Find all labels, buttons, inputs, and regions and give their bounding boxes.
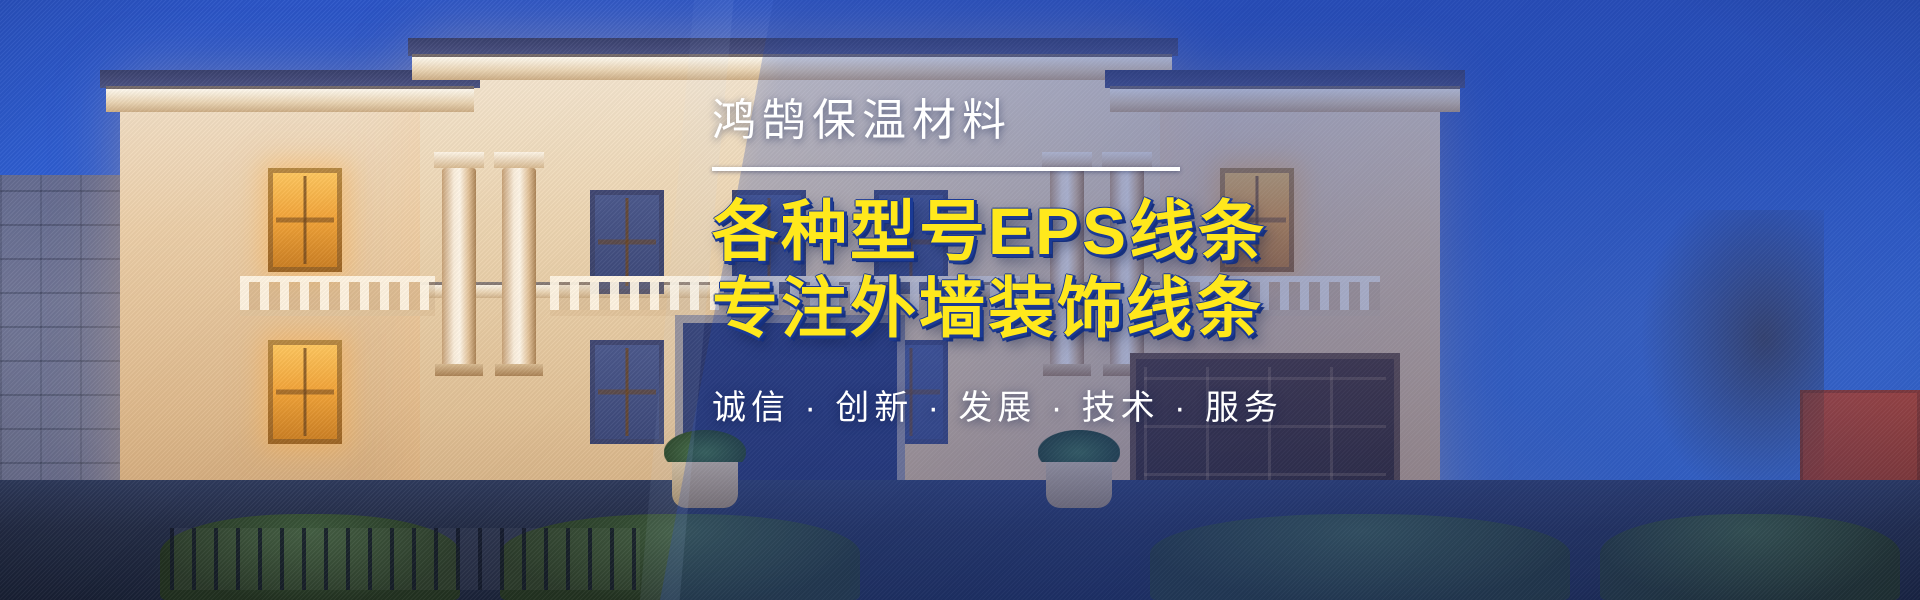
- cornice-center: [412, 54, 1172, 80]
- hero-banner: 鸿鹄保温材料 各种型号EPS线条 专注外墙装饰线条 诚信 · 创新 · 发展 ·…: [0, 0, 1920, 600]
- brand-name: 鸿鹄保温材料: [712, 96, 1612, 145]
- headline-line-2: 专注外墙装饰线条: [712, 270, 1612, 347]
- window-dark-4: [590, 340, 664, 444]
- tagline: 诚信 · 创新 · 发展 · 技术 · 服务: [712, 380, 1612, 429]
- hedge-right: [1150, 514, 1570, 600]
- column-1: [442, 168, 476, 364]
- planter-left: [672, 456, 738, 508]
- balustrade-left: [240, 276, 435, 316]
- cornice-left: [106, 86, 474, 112]
- hedge-far-right: [1600, 514, 1900, 600]
- headline: 各种型号EPS线条 专注外墙装饰线条: [712, 193, 1612, 346]
- iron-fence: [170, 528, 640, 590]
- headline-line-1: 各种型号EPS线条: [712, 193, 1612, 270]
- divider-rule: [712, 167, 1180, 171]
- planter-right: [1046, 456, 1112, 508]
- banner-copy-block: 鸿鹄保温材料 各种型号EPS线条 专注外墙装饰线条 诚信 · 创新 · 发展 ·…: [712, 96, 1612, 429]
- window-lit-1: [268, 168, 342, 272]
- window-lit-3: [268, 340, 342, 444]
- column-2: [502, 168, 536, 364]
